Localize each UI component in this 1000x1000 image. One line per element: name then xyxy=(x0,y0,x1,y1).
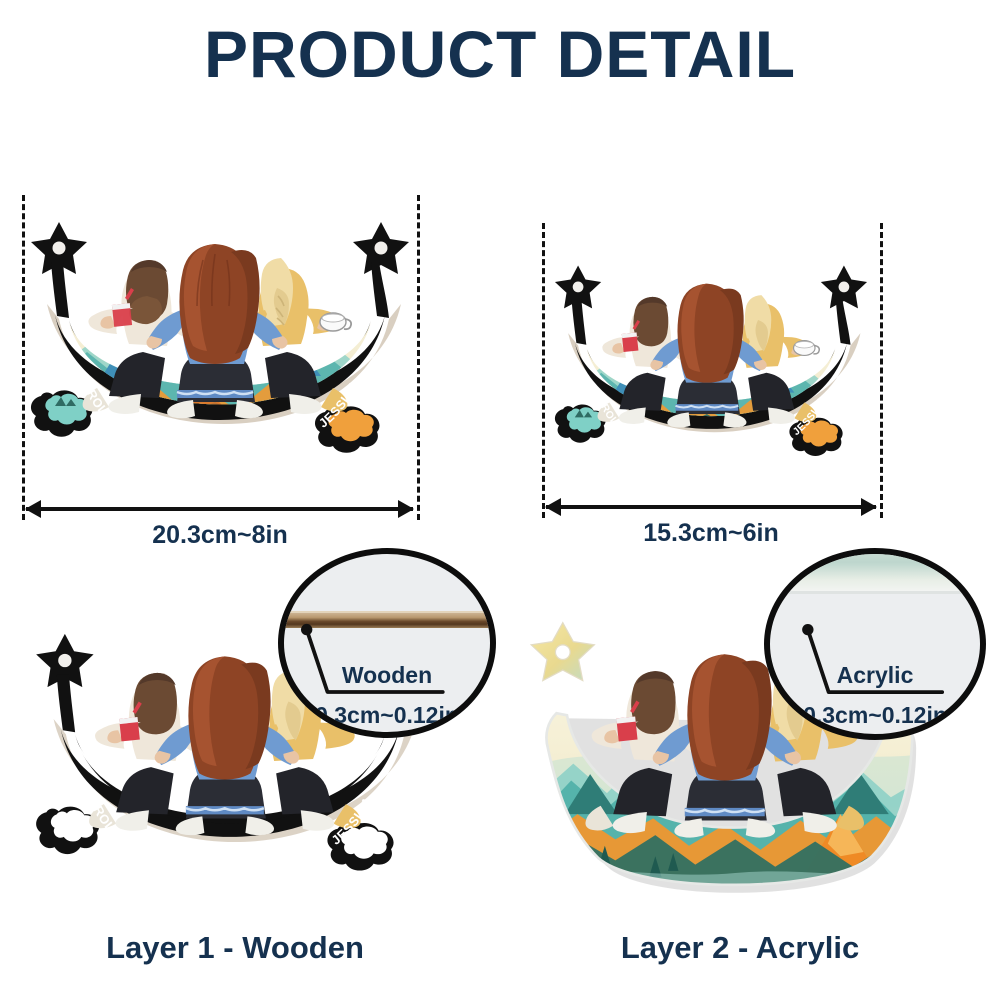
product-small-stage: CAROLINE JENNIFER JESSICA 15.3cm~6in xyxy=(520,215,920,545)
dimension-label-small: 15.3cm~6in xyxy=(520,519,902,548)
svg-text:JENNIFER: JENNIFER xyxy=(683,437,739,451)
engraved-name-center: JENNIFER xyxy=(186,429,253,447)
dimension-label-large: 20.3cm~8in xyxy=(0,521,440,550)
measure-guide-right xyxy=(417,195,420,520)
engraved-name-center: JENNIFER xyxy=(683,437,739,451)
measure-guide-right-small xyxy=(880,223,883,518)
svg-text:JENNIFER: JENNIFER xyxy=(186,429,253,447)
product-large-stage: CAROLINE JENNIFER JESSICA 20.3cm~8in xyxy=(0,185,450,545)
ornament-small-full: CAROLINE JENNIFER JESSICA xyxy=(550,247,872,487)
layer-caption-2: Layer 2 - Acrylic xyxy=(505,930,975,966)
dimension-arrow-large xyxy=(26,507,413,511)
callout-acrylic-thickness: Acrylic 0.3cm~0.12in xyxy=(764,548,986,740)
svg-text:JENNIFER: JENNIFER xyxy=(196,845,265,864)
ornament-large-full: CAROLINE JENNIFER JESSICA xyxy=(25,200,415,490)
page-title: PRODUCT DETAIL xyxy=(0,16,1000,92)
measure-guide-left-small xyxy=(542,223,545,518)
engraved-name-center: JENNIFER xyxy=(196,845,265,864)
layer-caption-1: Layer 1 - Wooden xyxy=(10,930,460,966)
callout-wooden-thickness: Wooden 0.3cm~0.12in xyxy=(278,548,496,738)
dimension-arrow-small xyxy=(546,505,876,509)
product-detail-page: PRODUCT DETAIL xyxy=(0,0,1000,1000)
